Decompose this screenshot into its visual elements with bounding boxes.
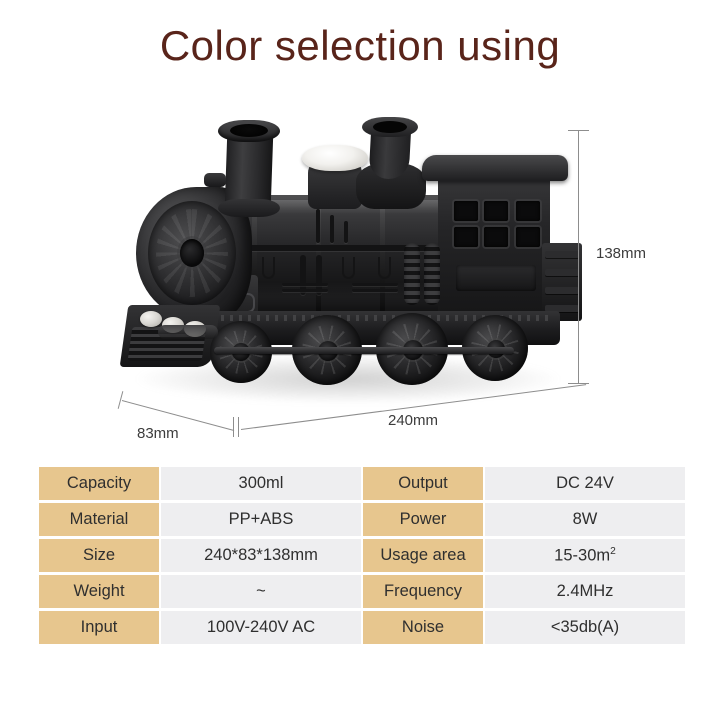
spec-value: 240*83*138mm bbox=[161, 539, 361, 572]
steam-outlet-cap bbox=[302, 145, 368, 171]
rear-platform bbox=[542, 243, 582, 321]
spec-value: 100V-240V AC bbox=[161, 611, 361, 644]
spec-label: Capacity bbox=[39, 467, 159, 500]
spec-label: Weight bbox=[39, 575, 159, 608]
table-row: Size 240*83*138mm Usage area 15-30m2 bbox=[39, 539, 685, 572]
cab-window bbox=[454, 201, 478, 221]
smokestack-base bbox=[218, 199, 280, 217]
usage-area-superscript: 2 bbox=[610, 546, 616, 557]
spec-value: 300ml bbox=[161, 467, 361, 500]
height-dimension-line bbox=[578, 130, 579, 383]
spec-label: Usage area bbox=[363, 539, 483, 572]
ladder-rung bbox=[545, 269, 579, 276]
spec-table-body: Capacity 300ml Output DC 24V Material PP… bbox=[39, 467, 685, 644]
height-tick-top bbox=[568, 130, 589, 131]
coupling-rod bbox=[214, 347, 514, 354]
spec-value: ~ bbox=[161, 575, 361, 608]
spec-value: <35db(A) bbox=[485, 611, 685, 644]
smokestack-opening bbox=[230, 124, 268, 137]
spec-value: 8W bbox=[485, 503, 685, 536]
spec-value: 2.4MHz bbox=[485, 575, 685, 608]
cab-roof bbox=[422, 155, 568, 181]
cab-rear-panel bbox=[456, 265, 536, 291]
cross-pipe bbox=[282, 283, 328, 286]
cab-window bbox=[516, 201, 540, 221]
cab-window bbox=[484, 227, 508, 247]
table-row: Material PP+ABS Power 8W bbox=[39, 503, 685, 536]
spring-coil bbox=[404, 243, 420, 305]
spec-label: Material bbox=[39, 503, 159, 536]
depth-dimension-label: 83mm bbox=[137, 425, 179, 442]
table-row: Weight ~ Frequency 2.4MHz bbox=[39, 575, 685, 608]
height-dimension-label: 138mm bbox=[596, 245, 646, 262]
cab-window bbox=[516, 227, 540, 247]
cross-pipe bbox=[282, 289, 328, 292]
table-row: Capacity 300ml Output DC 24V bbox=[39, 467, 685, 500]
spec-label: Size bbox=[39, 539, 159, 572]
detail-hook bbox=[378, 257, 391, 279]
rear-funnel-opening bbox=[373, 121, 407, 133]
smokebox-hub bbox=[180, 239, 204, 267]
spec-label: Noise bbox=[363, 611, 483, 644]
cab-window bbox=[484, 201, 508, 221]
product-image: 138mm 83mm 240mm bbox=[0, 95, 720, 455]
cross-pipe bbox=[352, 283, 398, 286]
spec-label: Frequency bbox=[363, 575, 483, 608]
vertical-pipe bbox=[330, 215, 334, 243]
train-humidifier-illustration bbox=[118, 115, 578, 405]
spec-label: Output bbox=[363, 467, 483, 500]
spec-value-usage-area: 15-30m2 bbox=[485, 539, 685, 572]
ladder-rung bbox=[545, 251, 579, 258]
vertical-pipe bbox=[316, 209, 320, 243]
spec-label: Input bbox=[39, 611, 159, 644]
whistle bbox=[204, 173, 226, 187]
depth-tick-right bbox=[233, 417, 234, 437]
boiler-seam bbox=[380, 195, 385, 313]
depth-tick-right-2 bbox=[238, 417, 239, 437]
spec-label: Power bbox=[363, 503, 483, 536]
usage-area-text: 15-30m bbox=[554, 546, 610, 564]
detail-hook bbox=[342, 257, 355, 279]
cab-window bbox=[454, 227, 478, 247]
cross-pipe bbox=[352, 289, 398, 292]
headlight bbox=[140, 311, 162, 327]
ladder-rung bbox=[545, 287, 579, 294]
cylinder-piston bbox=[158, 325, 218, 339]
page-title: Color selection using bbox=[0, 22, 720, 70]
spring-coil bbox=[424, 243, 440, 305]
vertical-pipe bbox=[344, 221, 348, 243]
spec-value: PP+ABS bbox=[161, 503, 361, 536]
spec-value: DC 24V bbox=[485, 467, 685, 500]
length-dimension-label: 240mm bbox=[388, 412, 438, 429]
specification-table: Capacity 300ml Output DC 24V Material PP… bbox=[37, 464, 687, 647]
product-spec-page: Color selection using bbox=[0, 0, 720, 720]
table-row: Input 100V-240V AC Noise <35db(A) bbox=[39, 611, 685, 644]
detail-hook bbox=[262, 257, 275, 279]
